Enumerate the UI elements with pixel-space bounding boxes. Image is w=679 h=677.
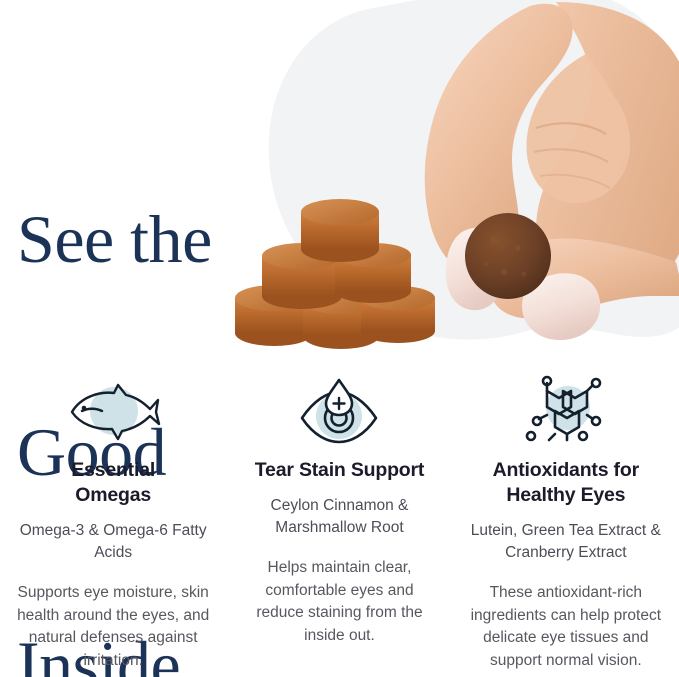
feature-subtitle: Ceylon Cinnamon & Marshmallow Root — [239, 495, 439, 539]
molecule-icon — [511, 378, 621, 444]
feature-subtitle: Omega-3 & Omega-6 Fatty Acids — [6, 520, 220, 564]
hand-holding-chew — [425, 2, 679, 340]
fish-icon — [58, 378, 168, 444]
feature-title: Tear Stain Support — [255, 458, 424, 483]
feature-column-antioxidants: Antioxidants for Healthy Eyes Lutein, Gr… — [453, 378, 679, 672]
feature-column-omegas: Essential Omegas Omega-3 & Omega-6 Fatty… — [0, 378, 226, 672]
hero-product-photo — [0, 0, 679, 370]
feature-title: Essential Omegas — [43, 458, 183, 508]
held-chew — [465, 213, 551, 299]
feature-body: Supports eye moisture, skin health aroun… — [13, 582, 213, 672]
feature-subtitle: Lutein, Green Tea Extract & Cranberry Ex… — [459, 520, 673, 564]
feature-title: Antioxidants for Healthy Eyes — [461, 458, 671, 508]
chew-stack — [235, 199, 435, 349]
eye-teardrop-icon — [284, 378, 394, 444]
feature-body: These antioxidant-rich ingredients can h… — [466, 582, 666, 672]
feature-column-tear-stain: Tear Stain Support Ceylon Cinnamon & Mar… — [226, 378, 452, 647]
feature-body: Helps maintain clear, comfortable eyes a… — [252, 557, 427, 647]
feature-columns: Essential Omegas Omega-3 & Omega-6 Fatty… — [0, 378, 679, 672]
product-benefits-infographic: See the Good Inside — [0, 0, 679, 677]
